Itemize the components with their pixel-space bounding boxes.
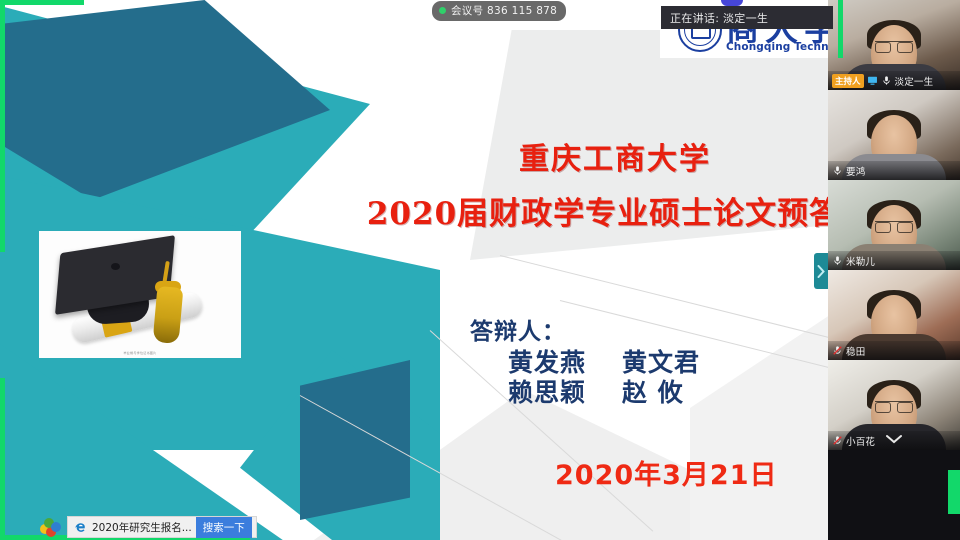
taskbar-window-button[interactable]: 2020年研究生报名... 搜索一下	[67, 516, 257, 538]
presenter-name: 赖思颖	[508, 373, 600, 409]
taskbar-window-title: 2020年研究生报名...	[92, 520, 192, 535]
participant-tile[interactable]: 米勒儿	[828, 180, 960, 270]
share-border-right-bottom	[948, 470, 960, 514]
tassel	[153, 286, 184, 344]
participant-tile[interactable]: 主持人 淡定一生	[828, 0, 960, 90]
speaking-banner-notch	[721, 0, 743, 6]
participant-name: 米勒儿	[846, 254, 875, 268]
video-panel-collapse-button[interactable]	[814, 253, 828, 289]
presenter-row: 赖思颖赵 攸	[508, 373, 684, 409]
speaking-banner: 正在讲话: 淡定一生	[661, 6, 833, 29]
search-button[interactable]: 搜索一下	[196, 517, 252, 538]
microphone-icon	[832, 255, 843, 266]
participant-name: 要鸿	[846, 164, 865, 178]
participant-tile[interactable]: 要鸿	[828, 90, 960, 180]
presenter-name: 赵 攸	[622, 373, 684, 409]
share-border-right-top	[838, 0, 843, 58]
participant-name: 淡定一生	[895, 74, 934, 88]
presenter-label: 答辩人：	[470, 312, 566, 346]
participant-label-bar: 米勒儿	[828, 251, 960, 270]
microphone-muted-icon	[832, 345, 843, 356]
taskbar: 2020年研究生报名... 搜索一下	[0, 514, 960, 540]
chevron-right-icon	[817, 265, 825, 278]
slide-title: 重庆工商大学	[380, 134, 850, 178]
screen-share-stage: 毕业帽与学位证书图片 重庆工商大学 2020届财政学专业硕士论文预答辩 答辩人：…	[0, 0, 960, 540]
meeting-id-label: 会议号 836 115 878	[451, 3, 557, 18]
participant-name: 小百花	[846, 434, 875, 448]
participant-label-bar: 主持人 淡定一生	[828, 71, 960, 90]
screen-share-icon	[867, 75, 878, 86]
participant-label-bar: 稳田	[828, 341, 960, 360]
decor-blue-arrow	[300, 360, 410, 520]
chevron-down-icon	[885, 434, 903, 444]
host-badge: 主持人	[832, 74, 864, 88]
msn-messenger-icon[interactable]	[40, 518, 61, 537]
participant-name: 稳田	[846, 344, 865, 358]
photo-caption: 毕业帽与学位证书图片	[39, 351, 241, 355]
share-border-top	[0, 0, 84, 5]
participant-tile[interactable]: 稳田	[828, 270, 960, 360]
participant-tile[interactable]: 小百花	[828, 360, 960, 450]
microphone-icon	[832, 165, 843, 176]
slide-date: 2020年3月21日	[555, 453, 778, 492]
panel-scroll-down-button[interactable]	[885, 429, 903, 448]
participant-label-bar: 要鸿	[828, 161, 960, 180]
speaking-banner-label: 正在讲话: 淡定一生	[670, 10, 768, 26]
graduation-cap-photo: 毕业帽与学位证书图片	[36, 228, 244, 361]
cap-button	[111, 263, 120, 270]
microphone-icon	[881, 75, 892, 86]
recording-status-dot	[439, 7, 446, 14]
microphone-muted-icon	[832, 435, 843, 446]
internet-explorer-icon	[73, 520, 88, 535]
share-border-left	[0, 0, 5, 252]
meeting-id-pill[interactable]: 会议号 836 115 878	[432, 1, 566, 21]
participant-video-panel[interactable]: 主持人 淡定一生	[828, 0, 960, 540]
